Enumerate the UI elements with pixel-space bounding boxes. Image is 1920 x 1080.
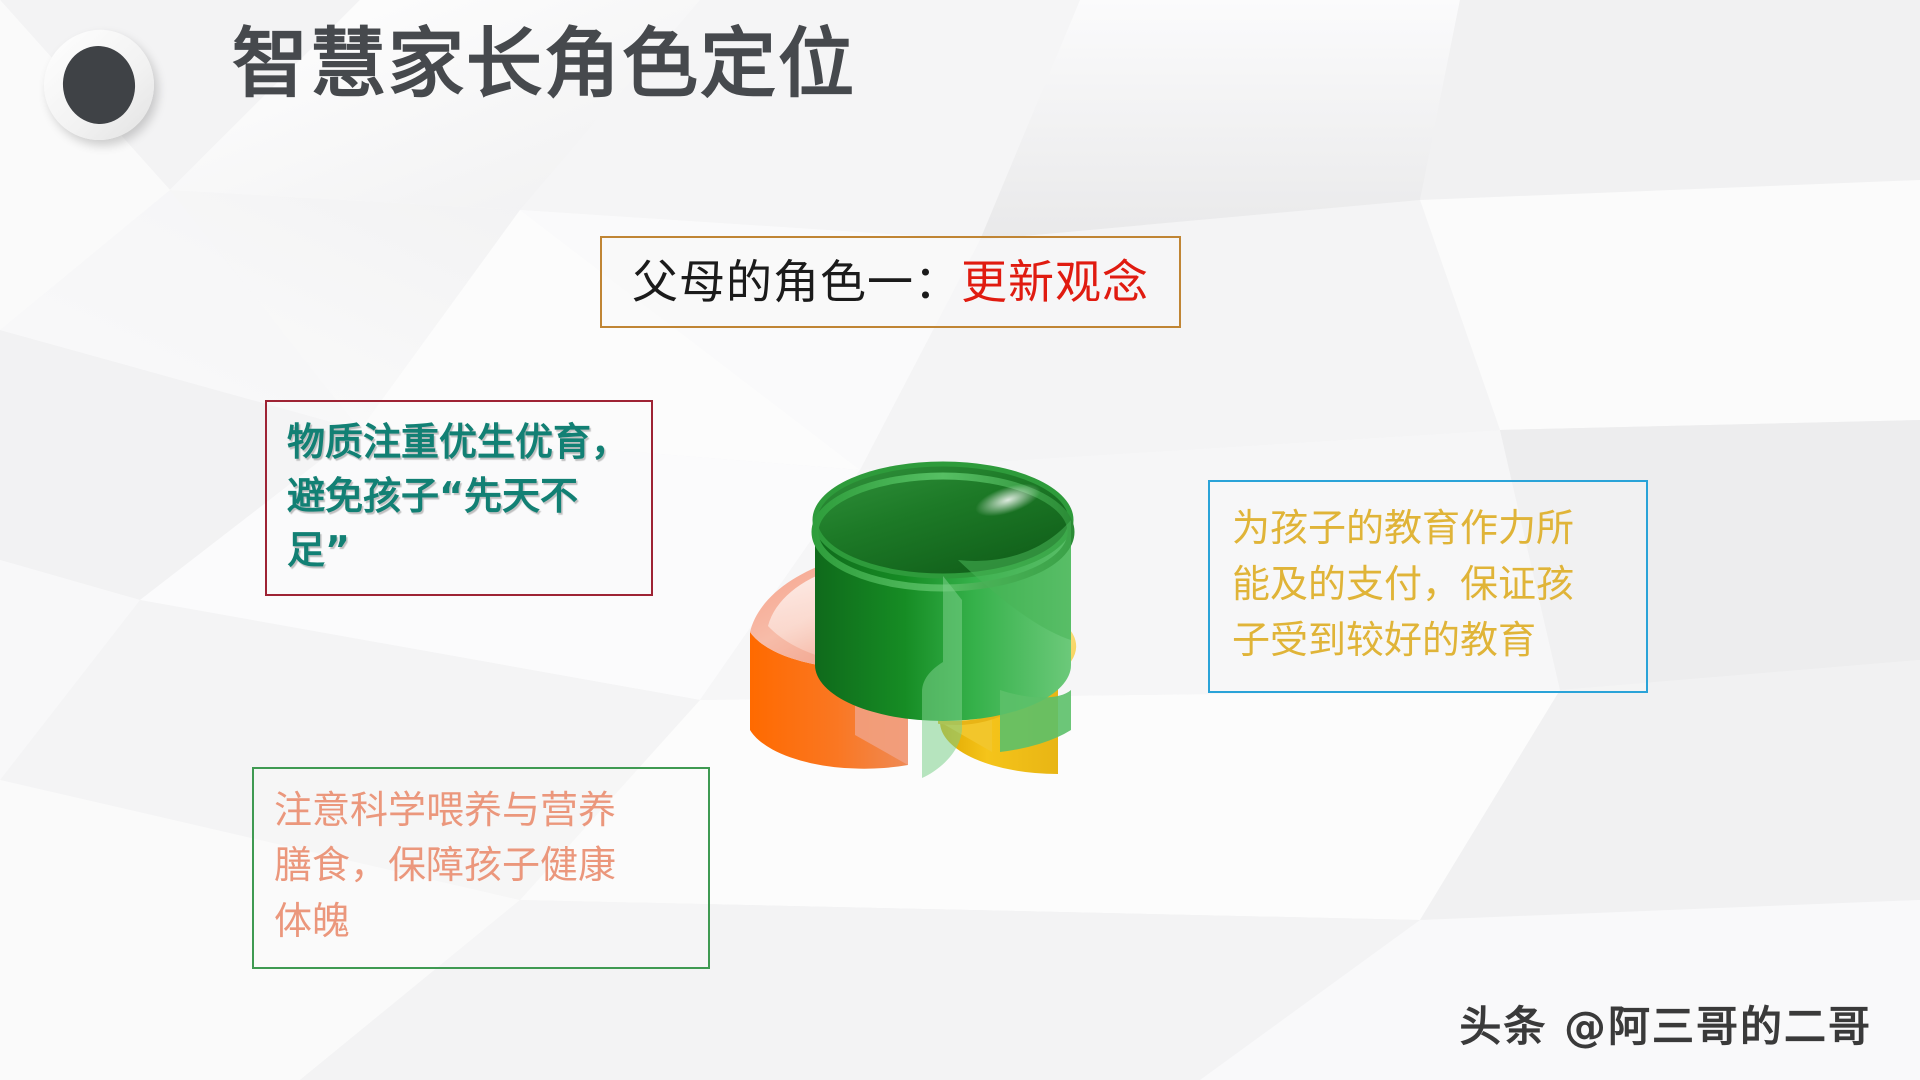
watermark-text: 头条 @阿三哥的二哥 bbox=[1459, 993, 1872, 1054]
subtitle-label: 父母的角色一： bbox=[632, 255, 961, 309]
exploded-3d-pie-chart bbox=[640, 400, 1160, 900]
slide-root: 智慧家长角色定位 父母的角色一：更新观念 物质注重优生优育， 避免孩子“先天不足… bbox=[0, 0, 1920, 1080]
pie-chart-svg bbox=[640, 400, 1160, 900]
callout-lower-left-text: 注意科学喂养与营养 膳食，保障孩子健康 体魄 bbox=[274, 783, 690, 949]
filled-circle-icon bbox=[37, 23, 161, 147]
pie-slice-green-foot bbox=[1000, 690, 1071, 752]
callout-upper-left-text: 物质注重优生优育， 避免孩子“先天不足” bbox=[287, 416, 633, 578]
subtitle-banner: 父母的角色一：更新观念 bbox=[600, 236, 1181, 328]
filled-circle-icon-dot bbox=[58, 41, 140, 128]
subtitle-accent: 更新观念 bbox=[961, 255, 1149, 309]
callout-upper-left: 物质注重优生优育， 避免孩子“先天不足” bbox=[265, 400, 653, 596]
page-title: 智慧家长角色定位 bbox=[232, 20, 856, 107]
slide-header: 智慧家长角色定位 bbox=[0, 0, 1920, 160]
callout-right-text: 为孩子的教育作力所 能及的支付，保证孩 子受到较好的教育 bbox=[1232, 500, 1626, 669]
callout-right: 为孩子的教育作力所 能及的支付，保证孩 子受到较好的教育 bbox=[1208, 480, 1648, 693]
